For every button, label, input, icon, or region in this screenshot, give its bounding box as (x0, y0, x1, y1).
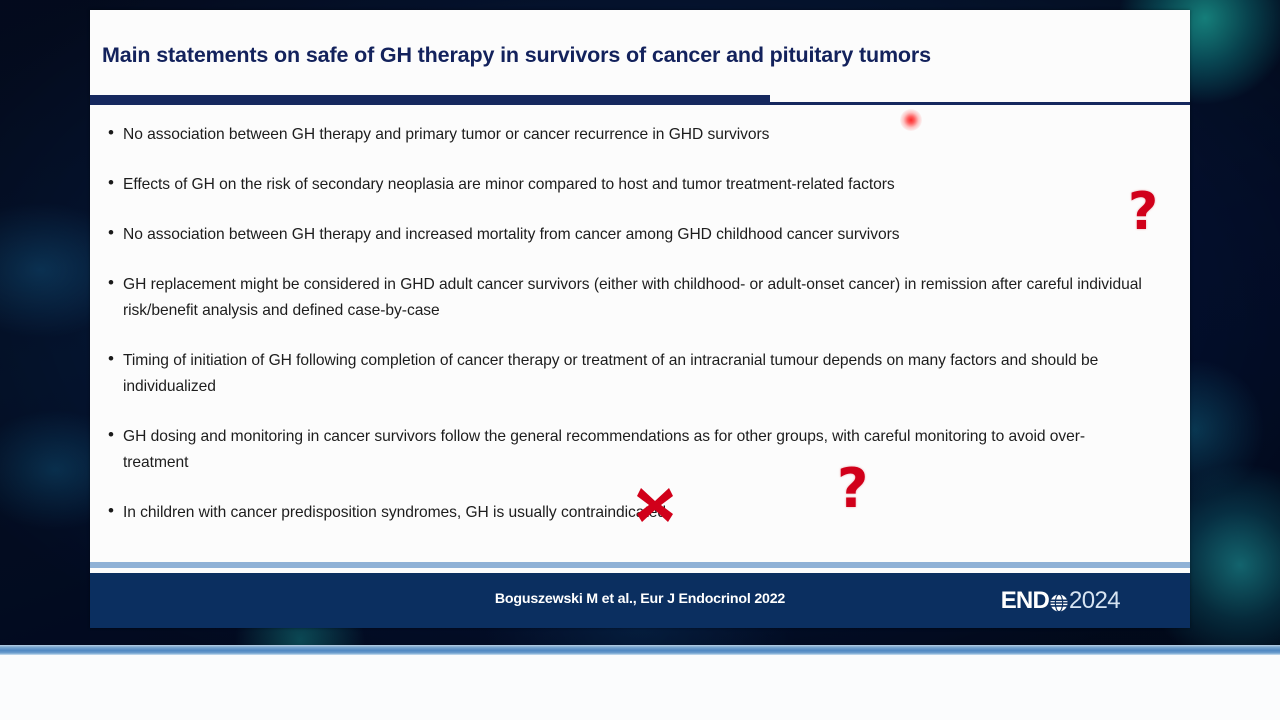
title-underline-thin (90, 102, 1190, 105)
list-item-text: Timing of initiation of GH following com… (123, 348, 1178, 400)
list-item-text: Effects of GH on the risk of secondary n… (123, 172, 1178, 198)
list-item-text: GH dosing and monitoring in cancer survi… (123, 424, 1098, 476)
list-item: • GH replacement might be considered in … (108, 272, 1143, 324)
list-item: • GH dosing and monitoring in cancer sur… (108, 424, 1098, 476)
list-item-text: No association between GH therapy and in… (123, 222, 1178, 248)
list-item-text: No association between GH therapy and pr… (123, 122, 1178, 148)
bullet-marker: • (108, 172, 118, 194)
footer-divider (90, 562, 1190, 568)
endo-2024-logo-footer: END 2024 (1001, 587, 1120, 615)
question-mark-annotation-1: ? (1128, 186, 1158, 238)
question-mark-annotation-2: ? (837, 462, 868, 516)
bullet-marker: • (108, 500, 118, 522)
list-item: • No association between GH therapy and … (108, 122, 1178, 148)
bullet-marker: • (108, 424, 118, 446)
globe-icon (1050, 594, 1068, 612)
page-title: Main statements on safe of GH therapy in… (102, 43, 931, 68)
endo-year: 2024 (1069, 587, 1120, 615)
list-item: • Timing of initiation of GH following c… (108, 348, 1178, 400)
bullet-marker: • (108, 272, 118, 294)
bullet-marker: • (108, 348, 118, 370)
list-item: • No association between GH therapy and … (108, 222, 1178, 248)
slide-footer: Boguszewski M et al., Eur J Endocrinol 2… (90, 573, 1190, 628)
list-item: • Effects of GH on the risk of secondary… (108, 172, 1178, 198)
x-mark-annotation (633, 482, 677, 526)
bullet-marker: • (108, 122, 118, 144)
list-item-text: GH replacement might be considered in GH… (123, 272, 1143, 324)
slide-title-block: Main statements on safe of GH therapy in… (90, 10, 1190, 88)
slide-canvas: Main statements on safe of GH therapy in… (90, 10, 1190, 628)
bottom-divider-bar (0, 645, 1280, 655)
laser-pointer-dot (900, 109, 922, 131)
bottom-branding-strip: END 2024 (0, 655, 1280, 720)
endo-wordmark: END (1001, 587, 1049, 615)
bullet-marker: • (108, 222, 118, 244)
